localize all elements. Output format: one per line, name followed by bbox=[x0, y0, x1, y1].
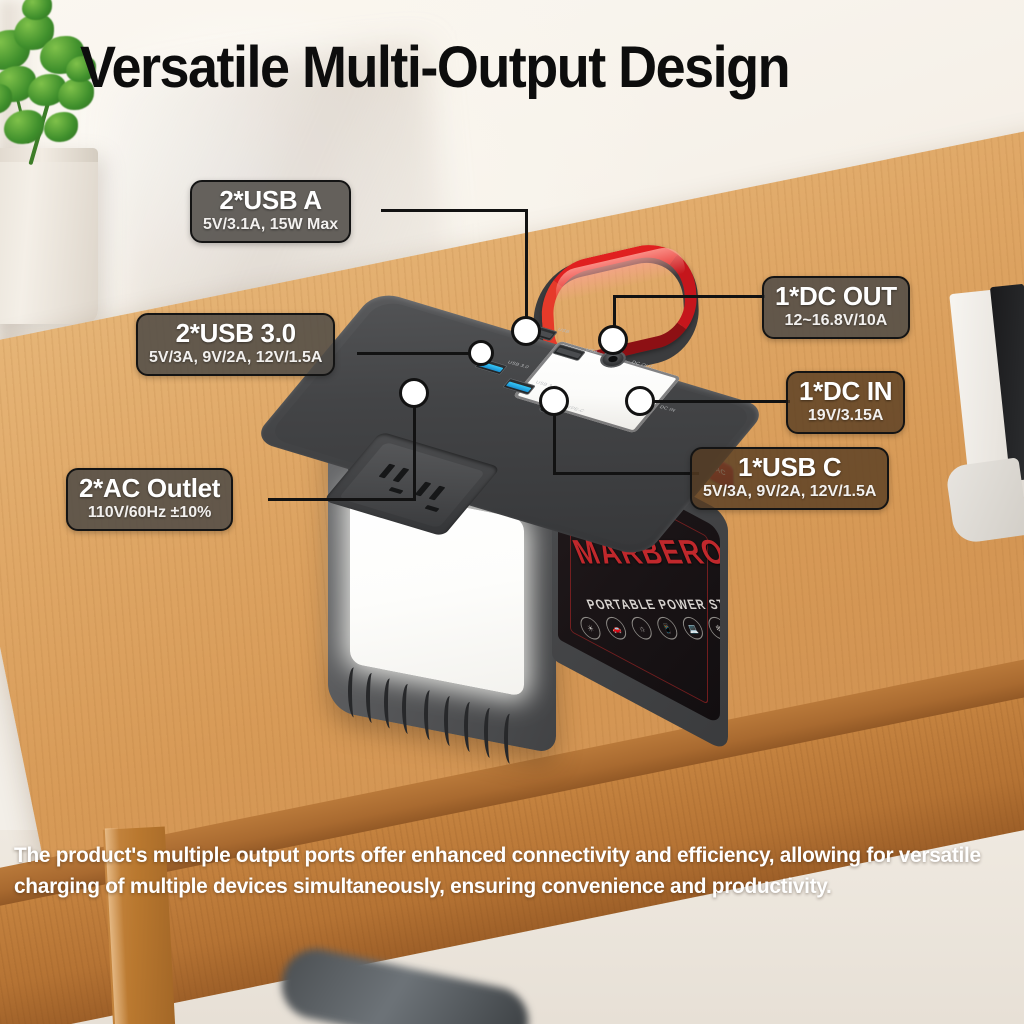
callout-usb-c-title: 1*USB C bbox=[703, 454, 876, 481]
callout-dc-out-spec: 12~16.8V/10A bbox=[775, 311, 897, 330]
leader-dcout-h bbox=[613, 295, 765, 298]
product-infographic: MARBERO PORTABLE POWER STATION ☀ 🚗 ☼ 📱 💻… bbox=[0, 0, 1024, 1024]
callout-dot-usbc bbox=[539, 386, 569, 416]
callout-usb-c-spec: 5V/3A, 9V/2A, 12V/1.5A bbox=[703, 482, 876, 501]
callout-ac-outlet-spec: 110V/60Hz ±10% bbox=[79, 503, 220, 522]
light-icon: ☼ bbox=[628, 617, 655, 640]
feature-icon-row: ☀ 🚗 ☼ 📱 💻 ❄ bbox=[577, 617, 720, 640]
leader-usb-a-v bbox=[525, 209, 528, 321]
callout-dc-in[interactable]: 1*DC IN 19V/3.15A bbox=[786, 371, 905, 434]
leader-ac-v bbox=[413, 392, 416, 500]
callout-dot-usb3 bbox=[468, 340, 494, 366]
phone-icon: 📱 bbox=[654, 617, 681, 640]
leader-ac-h bbox=[268, 498, 416, 501]
laptop-icon: 💻 bbox=[679, 617, 706, 640]
car-icon: 🚗 bbox=[603, 617, 630, 640]
callout-usb-3-title: 2*USB 3.0 bbox=[149, 320, 322, 347]
fan-icon: ❄ bbox=[705, 617, 720, 640]
callout-dc-in-title: 1*DC IN bbox=[799, 378, 892, 405]
callout-usb-3-spec: 5V/3A, 9V/2A, 12V/1.5A bbox=[149, 348, 322, 367]
callout-usb-3[interactable]: 2*USB 3.0 5V/3A, 9V/2A, 12V/1.5A bbox=[136, 313, 335, 376]
monitor-stand bbox=[945, 457, 1024, 545]
callout-dot-ac bbox=[399, 378, 429, 408]
leader-usbc-h bbox=[553, 472, 699, 475]
brand-subtitle: PORTABLE POWER STATION bbox=[584, 596, 720, 612]
plant-pot bbox=[0, 148, 98, 324]
callout-usb-c[interactable]: 1*USB C 5V/3A, 9V/2A, 12V/1.5A bbox=[690, 447, 889, 510]
callout-usb-a-spec: 5V/3.1A, 15W Max bbox=[203, 215, 338, 234]
page-caption: The product's multiple output ports offe… bbox=[14, 840, 984, 901]
leader-usb3-h bbox=[357, 352, 483, 355]
leader-dcin-h bbox=[650, 400, 790, 403]
callout-dot-usb-a bbox=[511, 316, 541, 346]
callout-usb-a[interactable]: 2*USB A 5V/3.1A, 15W Max bbox=[190, 180, 351, 243]
callout-ac-outlet[interactable]: 2*AC Outlet 110V/60Hz ±10% bbox=[66, 468, 233, 531]
callout-usb-a-title: 2*USB A bbox=[203, 187, 338, 214]
callout-dot-dcout bbox=[598, 325, 628, 355]
power-station: MARBERO PORTABLE POWER STATION ☀ 🚗 ☼ 📱 💻… bbox=[300, 240, 720, 740]
page-title: Versatile Multi-Output Design bbox=[80, 34, 789, 101]
callout-dc-out[interactable]: 1*DC OUT 12~16.8V/10A bbox=[762, 276, 910, 339]
leader-usb-a-h bbox=[381, 209, 528, 212]
callout-ac-outlet-title: 2*AC Outlet bbox=[79, 475, 220, 502]
callout-dc-out-title: 1*DC OUT bbox=[775, 283, 897, 310]
callout-dc-in-spec: 19V/3.15A bbox=[799, 406, 892, 425]
callout-dot-dcin bbox=[625, 386, 655, 416]
